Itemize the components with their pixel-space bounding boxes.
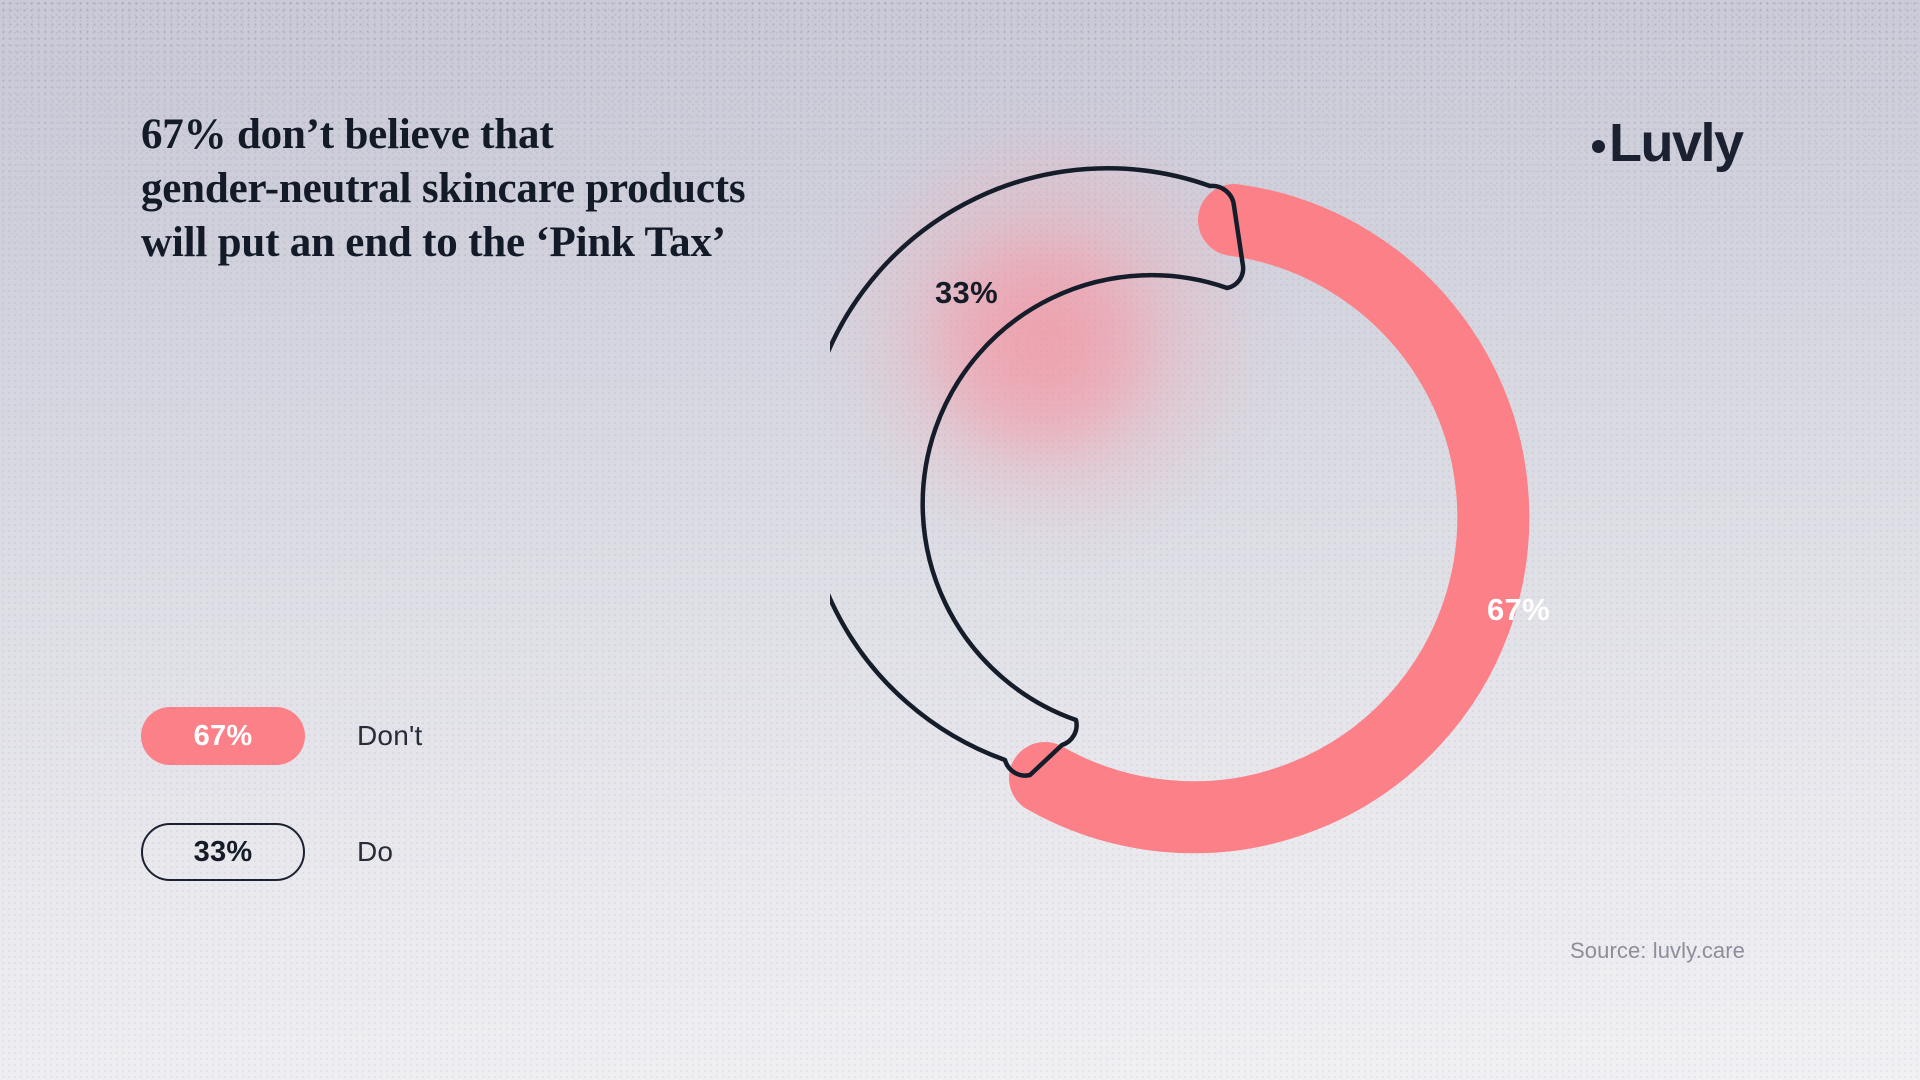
legend-label-do: Do: [357, 836, 393, 868]
legend-pill-do: 33%: [141, 823, 305, 881]
arc-segment-do: [830, 168, 1243, 775]
donut-chart: [830, 100, 1630, 900]
legend-item-do[interactable]: 33% Do: [141, 823, 423, 881]
donut-arcs: [830, 100, 1630, 900]
legend-label-dont: Don't: [357, 720, 423, 752]
arc-label-dont: 67%: [1487, 592, 1550, 628]
arc-segment-dont-body: [1045, 220, 1493, 817]
legend: 67% Don't 33% Do: [141, 707, 423, 939]
arc-label-do: 33%: [935, 275, 998, 311]
legend-item-dont[interactable]: 67% Don't: [141, 707, 423, 765]
source-attribution: Source: luvly.care: [1570, 938, 1745, 964]
legend-pill-dont: 67%: [141, 707, 305, 765]
